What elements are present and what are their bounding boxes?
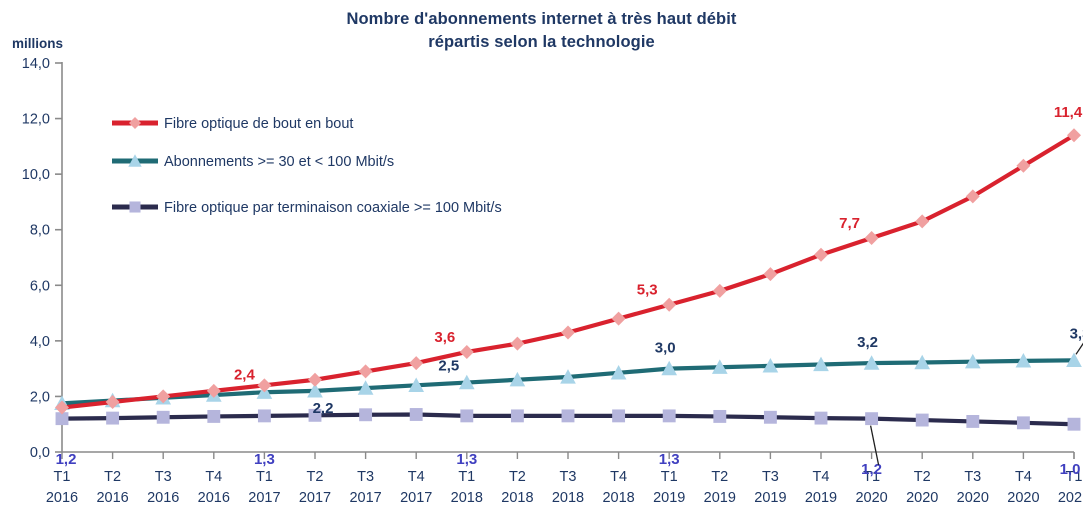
x-tick-label-year: 2018	[451, 490, 483, 506]
x-tick-label-quarter: T2	[509, 469, 526, 485]
x-tick-label-quarter: T2	[711, 469, 728, 485]
x-tick-label-year: 2018	[552, 490, 584, 506]
data-point-marker	[106, 412, 119, 425]
data-point-marker	[1068, 418, 1081, 431]
data-point-marker	[764, 411, 777, 424]
x-tick-label-year: 2020	[906, 490, 938, 506]
y-tick-label: 8,0	[30, 223, 50, 239]
data-label-red: 5,3	[637, 282, 658, 299]
legend-item-label: Abonnements >= 30 et < 100 Mbit/s	[164, 154, 394, 170]
data-point-marker	[409, 356, 423, 370]
y-tick-label: 6,0	[30, 278, 50, 294]
data-point-marker	[308, 373, 322, 387]
data-point-marker	[561, 326, 575, 340]
x-tick-label-quarter: T3	[560, 469, 577, 485]
data-point-marker	[207, 410, 220, 423]
x-tick-label-year: 2016	[96, 490, 128, 506]
y-tick-label: 12,0	[22, 112, 50, 128]
x-tick-label-quarter: T1	[661, 469, 678, 485]
legend-item-1[interactable]: Fibre optique de bout en bout	[112, 116, 353, 132]
data-point-marker	[562, 409, 575, 422]
data-point-marker	[511, 409, 524, 422]
x-tick-label-year: 2016	[147, 490, 179, 506]
x-tick-label-quarter: T3	[357, 469, 374, 485]
leader-line-navy	[871, 426, 879, 465]
y-tick-label: 4,0	[30, 334, 50, 350]
series-3	[56, 408, 1081, 431]
data-label-teal: 3,3	[1070, 325, 1083, 342]
data-point-marker	[814, 248, 828, 262]
data-point-marker	[359, 364, 373, 378]
data-point-marker	[129, 117, 141, 129]
x-tick-labels: T12016T22016T32016T42016T12017T22017T320…	[46, 469, 1083, 506]
data-label-red: 7,7	[839, 215, 860, 232]
x-tick-label-year: 2018	[501, 490, 533, 506]
legend: Fibre optique de bout en boutAbonnements…	[112, 116, 502, 216]
x-tick-label-year: 2017	[299, 490, 331, 506]
x-tick-label-year: 2017	[248, 490, 280, 506]
data-label-navy: 1,2	[56, 451, 77, 468]
legend-item-2[interactable]: Abonnements >= 30 et < 100 Mbit/s	[112, 154, 394, 170]
x-tick-label-quarter: T1	[256, 469, 273, 485]
data-point-marker	[815, 412, 828, 425]
data-point-marker	[157, 411, 170, 424]
data-point-marker	[1017, 416, 1030, 429]
x-tick-label-quarter: T3	[964, 469, 981, 485]
x-tick-label-quarter: T2	[914, 469, 931, 485]
data-label-red: 2,4	[234, 366, 256, 383]
x-tick-label-year: 2016	[46, 490, 78, 506]
chart-container: Nombre d'abonnements internet à très hau…	[0, 0, 1083, 514]
data-label-navy: 1,3	[456, 451, 477, 468]
data-label-teal: 2,5	[438, 358, 459, 375]
data-point-marker	[510, 337, 524, 351]
x-tick-label-quarter: T3	[155, 469, 172, 485]
y-tick-labels: 0,02,04,06,08,010,012,014,0	[22, 56, 50, 461]
legend-item-label: Fibre optique de bout en bout	[164, 116, 353, 132]
data-label-teal: 3,2	[857, 334, 878, 351]
line-chart-plot: 0,02,04,06,08,010,012,014,0 T12016T22016…	[0, 0, 1083, 514]
data-point-marker	[713, 284, 727, 298]
data-label-navy: 1,3	[659, 451, 680, 468]
x-tick-label-quarter: T4	[205, 469, 222, 485]
x-tick-label-quarter: T4	[813, 469, 830, 485]
x-tick-label-quarter: T1	[54, 469, 71, 485]
data-label-teal: 2,2	[313, 400, 334, 417]
data-point-marker	[915, 214, 929, 228]
data-label-teal: 3,0	[655, 340, 676, 357]
x-tick-label-year: 2019	[653, 490, 685, 506]
series-group	[54, 128, 1082, 430]
data-point-marker	[966, 415, 979, 428]
data-point-marker	[663, 409, 676, 422]
x-tick-label-quarter: T3	[762, 469, 779, 485]
x-tick-label-quarter: T4	[408, 469, 425, 485]
data-label-navy: 1,3	[254, 451, 275, 468]
data-label-navy: 1,0	[1060, 461, 1081, 478]
x-tick-label-quarter: T4	[1015, 469, 1032, 485]
x-tick-label-year: 2016	[198, 490, 230, 506]
x-tick-label-year: 2020	[957, 490, 989, 506]
y-tick-label: 2,0	[30, 389, 50, 405]
data-label-red: 11,4	[1054, 104, 1083, 121]
x-tick-label-quarter: T2	[104, 469, 121, 485]
legend-item-label: Fibre optique par terminaison coaxiale >…	[164, 200, 502, 216]
series-2	[54, 352, 1082, 410]
data-point-marker	[612, 409, 625, 422]
data-point-marker	[359, 408, 372, 421]
x-tick-label-year: 2020	[1007, 490, 1039, 506]
leader-line-teal	[1076, 342, 1083, 354]
data-point-marker	[410, 408, 423, 421]
data-point-marker	[460, 345, 474, 359]
data-point-marker	[916, 414, 929, 427]
data-point-marker	[865, 412, 878, 425]
x-tick-label-year: 2020	[855, 490, 887, 506]
y-tick-label: 14,0	[22, 56, 50, 72]
data-point-marker	[713, 410, 726, 423]
data-point-marker	[612, 312, 626, 326]
x-tick-label-year: 2021	[1058, 490, 1083, 506]
x-tick-label-year: 2019	[754, 490, 786, 506]
x-tick-label-year: 2018	[602, 490, 634, 506]
x-tick-label-year: 2019	[805, 490, 837, 506]
data-point-marker	[865, 231, 879, 245]
x-tick-label-year: 2017	[349, 490, 381, 506]
x-tick-label-year: 2019	[704, 490, 736, 506]
x-tick-label-year: 2017	[400, 490, 432, 506]
data-point-marker	[258, 409, 271, 422]
y-tick-label: 10,0	[22, 167, 50, 183]
legend-item-3[interactable]: Fibre optique par terminaison coaxiale >…	[112, 200, 502, 216]
data-point-marker	[129, 201, 140, 212]
y-tick-label: 0,0	[30, 445, 50, 461]
x-tick-label-quarter: T1	[458, 469, 475, 485]
x-tick-label-quarter: T4	[610, 469, 627, 485]
data-point-marker	[763, 267, 777, 281]
data-point-marker	[662, 298, 676, 312]
x-tick-label-quarter: T2	[307, 469, 324, 485]
data-label-red: 3,6	[434, 329, 455, 346]
data-point-marker	[460, 409, 473, 422]
